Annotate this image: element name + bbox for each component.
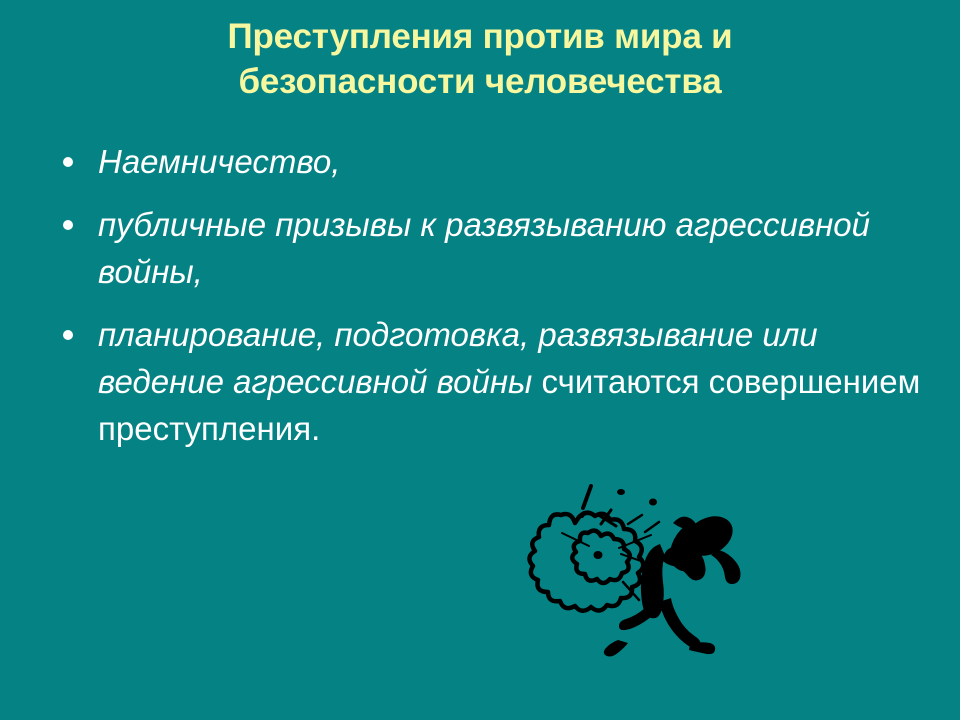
bullet-dot-icon (63, 220, 73, 230)
list-item: Наемничество, (50, 138, 930, 185)
list-item: планирование, подготовка, развязывание и… (50, 311, 930, 452)
explosion-and-startled-person-illustration (505, 478, 835, 668)
list-item-text-italic: публичные призывы к развязыванию агресси… (98, 206, 870, 290)
page-title: Преступления против мира и безопасности … (60, 14, 900, 104)
bullet-list: Наемничество, публичные призывы к развяз… (50, 138, 930, 452)
bullet-dot-icon (63, 330, 73, 340)
slide-canvas: Преступления против мира и безопасности … (0, 0, 960, 720)
list-item-text: Наемничество, (98, 138, 930, 185)
explosion-cloud-icon (529, 513, 643, 611)
list-item-text: публичные призывы к развязыванию агресси… (98, 201, 930, 295)
page-title-line-2: безопасности человечества (60, 59, 900, 104)
bullet-dot-icon (63, 157, 73, 167)
page-title-line-1: Преступления против мира и (60, 14, 900, 59)
list-item-text-italic: Наемничество, (98, 143, 340, 180)
list-item: публичные призывы к развязыванию агресси… (50, 201, 930, 295)
list-item-text: планирование, подготовка, развязывание и… (98, 311, 930, 452)
